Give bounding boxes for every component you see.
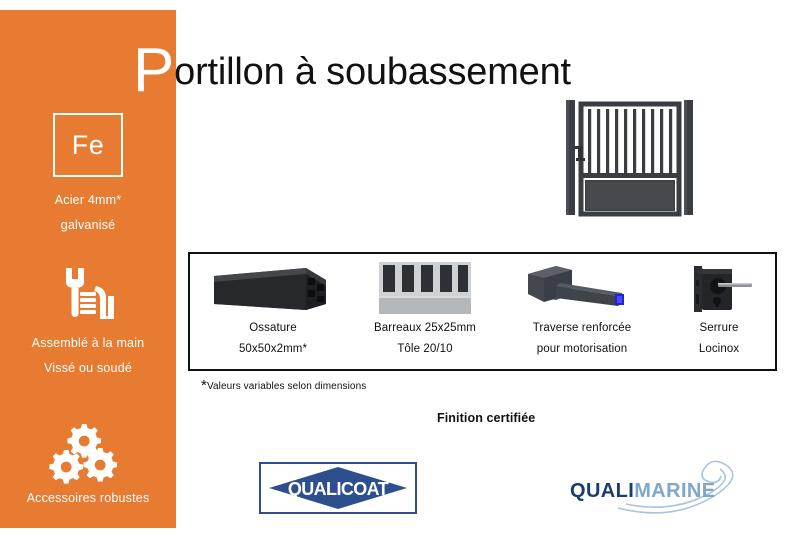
poster-page: Fe Acier 4mm* galvanisé Ass	[0, 0, 800, 534]
component-item: Barreaux 25x25mm Tôle 20/10	[350, 254, 500, 373]
wrench-hand-icon	[56, 266, 120, 328]
fe-element-icon: Fe	[53, 113, 123, 177]
footnote-star: *	[201, 377, 207, 394]
component-label-line2: pour motorisation	[502, 343, 662, 355]
component-item: Serrure Locinox	[664, 254, 774, 373]
gears-icon	[48, 422, 128, 484]
lock-icon	[664, 260, 774, 318]
page-title-initial: P	[133, 36, 174, 105]
qualimarine-wordmark: QUALIMARINE	[570, 480, 716, 503]
sidebar-feature-2-line2: Vissé ou soudé	[0, 361, 176, 375]
component-label-line1: Traverse renforcée	[502, 322, 662, 334]
footnote-text: Valeurs variables selon dimensions	[207, 381, 366, 392]
component-item: Ossature 50x50x2mm*	[198, 254, 348, 373]
sidebar-feature-1-line2: galvanisé	[0, 218, 176, 232]
page-title: Portillon à soubassement	[133, 51, 571, 94]
footnote: *Valeurs variables selon dimensions	[201, 381, 366, 392]
qualimarine-logo: QUALIMARINE	[560, 458, 740, 516]
svg-text:QUALICOAT: QUALICOAT	[288, 479, 389, 499]
qualicoat-logo: QUALICOAT	[259, 462, 417, 514]
component-item: Traverse renforcée pour motorisation	[502, 254, 662, 373]
component-label-line2: Locinox	[664, 343, 774, 355]
page-title-rest: ortillon à soubassement	[174, 51, 571, 93]
sidebar-feature-2-line1: Assemblé à la main	[0, 336, 176, 350]
components-panel: Ossature 50x50x2mm*	[188, 252, 777, 371]
component-label-line2: Tôle 20/10	[350, 343, 500, 355]
sidebar-feature-3-line1: Accessoires robustes	[0, 491, 176, 505]
component-label-line1: Serrure	[664, 322, 774, 334]
finition-label: Finition certifiée	[437, 411, 535, 425]
frame-profile-icon	[198, 260, 348, 318]
gate-illustration	[566, 96, 694, 218]
qualimarine-text-b: MARINE	[634, 480, 715, 502]
component-label-line2: 50x50x2mm*	[198, 343, 348, 355]
component-label-line1: Ossature	[198, 322, 348, 334]
component-label-line1: Barreaux 25x25mm	[350, 322, 500, 334]
fe-badge-label: Fe	[72, 130, 105, 161]
bars-sheet-icon	[350, 260, 500, 318]
qualimarine-text-a: QUALI	[570, 480, 634, 502]
sidebar-feature-1-line1: Acier 4mm*	[0, 193, 176, 207]
reinforced-crossbar-icon	[502, 260, 662, 318]
